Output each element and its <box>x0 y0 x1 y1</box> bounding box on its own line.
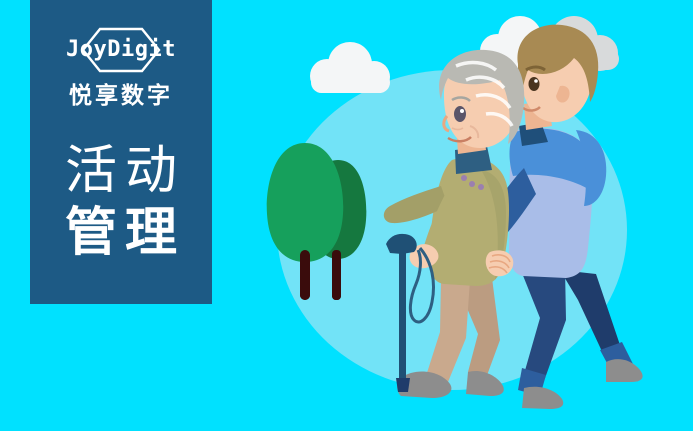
cane-tip <box>396 378 410 392</box>
brand-panel: JoyDigit 悦享数字 活动 管理 <box>30 0 212 304</box>
activity-management-banner: JoyDigit 悦享数字 活动 管理 <box>0 0 693 431</box>
logo-wordmark: JoyDigit <box>54 26 188 74</box>
page-title: 活动 管理 <box>30 140 212 264</box>
logo-chinese-name: 悦享数字 <box>30 83 212 108</box>
logo-mark: JoyDigit <box>54 26 188 74</box>
logo-block: JoyDigit 悦享数字 <box>30 26 212 108</box>
young-man-eye <box>529 77 540 91</box>
page-title-line-2: 管理 <box>30 202 212 264</box>
page-title-line-1: 活动 <box>30 140 212 202</box>
elderly-woman-eye <box>454 106 466 122</box>
